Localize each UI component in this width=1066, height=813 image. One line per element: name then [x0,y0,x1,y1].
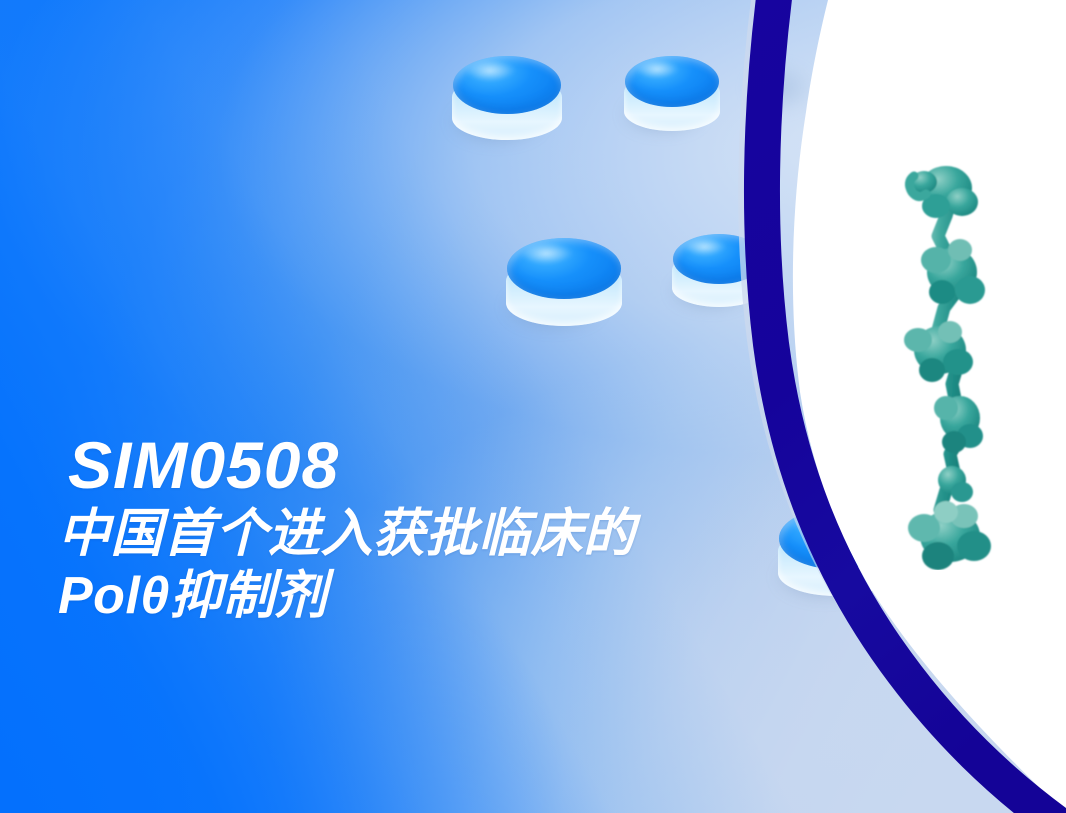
tablet-gloss [467,61,524,84]
tablet-pill [452,56,562,144]
title-block: SIM0508 中国首个进入获批临床的 Polθ抑制剂 [58,432,636,627]
tablet-pill [672,234,766,310]
tablet-pill [506,238,622,330]
tablet-pill [988,628,1066,706]
product-code-title: SIM0508 [68,432,636,498]
tablet-gloss [522,244,582,268]
molecule-lobe-3 [904,321,973,382]
tablet-gloss [637,61,687,81]
tablet-pill [624,56,720,134]
molecule-lobe-2 [921,239,985,304]
molecule-lobe-1 [909,166,978,218]
ghost-tablet-blur [736,60,822,122]
tablet-gloss [1001,633,1051,653]
poster-canvas: SIM0508 中国首个进入获批临床的 Polθ抑制剂 [0,0,1066,813]
molecule-lobe-6 [908,501,991,570]
subtitle-line-1: 中国首个进入获批临床的 [58,504,636,564]
tablet-pill [778,508,894,600]
molecule-body [904,166,991,570]
protein-ribbon-molecule [880,150,1066,570]
tablet-gloss [685,239,734,259]
molecule-lobe-4 [934,396,983,453]
tablet-gloss [794,514,854,538]
subtitle-line-2: Polθ抑制剂 [58,566,636,626]
